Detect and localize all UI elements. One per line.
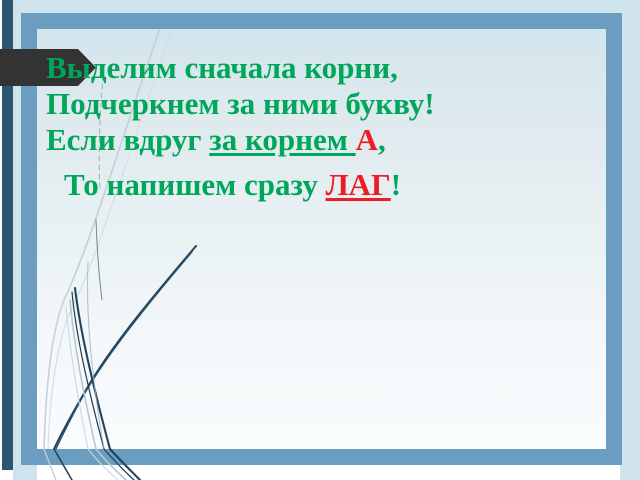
- outer-tint-top: [13, 0, 640, 14]
- verse-line-4-prefix: То напишем сразу: [64, 167, 326, 202]
- verse-line-3-underlined-phrase: за корнем: [209, 122, 355, 157]
- verse-text-block: Выделим сначала корни, Подчеркнем за ним…: [46, 50, 616, 203]
- presentation-slide: Выделим сначала корни, Подчеркнем за ним…: [0, 0, 640, 480]
- verse-line-4-exclamation: !: [391, 167, 401, 202]
- verse-line-4: То напишем сразу ЛАГ!: [46, 167, 616, 203]
- verse-line-3-comma: ,: [378, 122, 386, 157]
- verse-line-1-text: Выделим сначала корни,: [46, 50, 398, 85]
- verse-line-3-prefix: Если вдруг: [46, 122, 209, 157]
- verse-line-4-red-keyword: ЛАГ: [326, 167, 391, 202]
- outer-tint-right: [620, 0, 640, 480]
- verse-line-2-text: Подчеркнем за ними букву!: [46, 86, 435, 121]
- verse-line-3-red-letter: А: [356, 122, 378, 157]
- verse-line-1: Выделим сначала корни,: [46, 50, 616, 86]
- verse-line-2: Подчеркнем за ними букву!: [46, 86, 616, 122]
- verse-line-3: Если вдруг за корнем А,: [46, 122, 616, 158]
